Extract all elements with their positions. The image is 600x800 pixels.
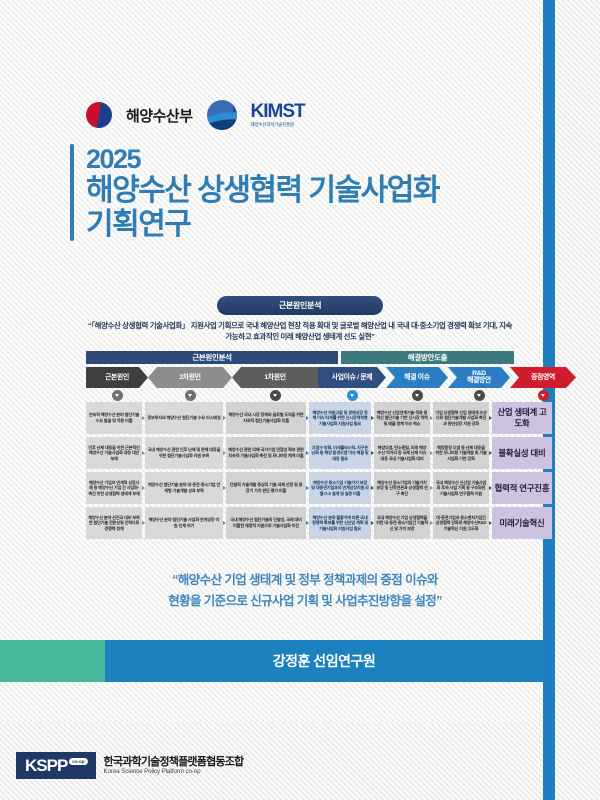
- cell-root-cause: 연속적 해양수산 분야 첨단기술 수요 발굴 및 적용 미흡: [86, 402, 142, 434]
- column-header-cause1-label: 1차원인: [262, 374, 287, 381]
- cell-issue: 해양수산 분야 활황기에 따른 국내 경쟁력 확보를 위한 신산업 계획 및 기…: [309, 507, 371, 539]
- chevron-down-icon-focus: [510, 390, 576, 401]
- cell-rnd: 국내 해양수산 신산업 기술사업화 후속 사업 기획 등 구조화된 기술사업화 …: [433, 472, 489, 504]
- presenter-band: 강정훈 선임연구원: [0, 640, 543, 682]
- column-header-cause1: 1차원인: [232, 367, 318, 388]
- chevron-down-icon-cause1: [232, 390, 318, 401]
- cell-focus-area: 미래기술혁신: [492, 507, 552, 539]
- cell-focus-area: 산업 생태계 고도화: [492, 402, 552, 434]
- kspp-coop-badge: co-op: [69, 758, 87, 765]
- title-accent-bar: [70, 144, 74, 241]
- band-blue-block: 강정훈 선임연구원: [105, 640, 543, 682]
- diagram-column-headers: 근본원인 2차원인 1차원인 사업이슈 / 문제 해결 이슈 R&D 해결방안 …: [86, 367, 514, 388]
- cell-cause2: 해양수산 첨단기술 분야 대·중견·중소기업 연계형 기술개발 성과 부족: [145, 472, 223, 504]
- kimst-subtitle: 해양수산과학기술진흥원: [251, 123, 305, 128]
- chevron-down-icon-cause2: [148, 390, 232, 401]
- footer-org-name-en: Korea Science Policy Platform co-op: [104, 768, 244, 775]
- bottom-quote-line-2: 현황을 기준으로 신규사업 기획 및 사업추진방향을 설정”: [70, 591, 540, 612]
- footer-org-name-kr: 한국과학기술정책플랫폼협동조합: [104, 756, 244, 769]
- taegeuk-icon: [82, 98, 115, 131]
- diagram-arrow-row: [86, 390, 514, 401]
- cell-root-cause: 인후 난제 대응을 위한 근본적인 해양수산 기술사업화 대응 대안 부재: [86, 437, 142, 469]
- chevron-down-icon-solve-issue: [386, 390, 448, 401]
- cell-rnd: 해양환경 오염 등 난제 대응을 위한 모니터링 기술개발 및 기술사업화 기반…: [433, 437, 489, 469]
- column-header-solve-issue: 해결 이슈: [386, 367, 448, 388]
- cell-cause1: 국내 해양수산 첨단기술의 단발성, 국제 대비 미흡한 재정적 지원으로 기술…: [226, 507, 306, 539]
- column-header-issue-label: 사업이슈 / 문제: [330, 374, 374, 381]
- group-bar-cause: 근본원인분석: [86, 351, 338, 364]
- column-header-rnd: R&D 해결방안: [448, 367, 510, 388]
- chevron-down-icon-rnd: [448, 390, 510, 401]
- diagram-grid: 연속적 해양수산 분야 첨단기술 수요 발굴 및 적용 미흡 정부투자와 해양수…: [86, 402, 514, 539]
- cell-cause2: 정부투자와 해양수산 첨단기술 수요 미스매칭: [145, 402, 223, 434]
- cell-issue: 해양수산 자원고갈 및 경제성장 정체 이슈 타개를 위한 신시장개척형 기술사…: [309, 402, 371, 434]
- column-header-solve-issue-label: 해결 이슈: [402, 374, 431, 381]
- column-header-issue: 사업이슈 / 문제: [318, 367, 386, 388]
- title-line-1: 해양수산 상생협력 기술사업화: [86, 174, 439, 208]
- cell-root-cause: 해양수산 기업의 연계적 성장사례 등 해양수산 기업 간 사업화·촉진 위한 …: [86, 472, 142, 504]
- cell-issue: 해양수산 중소기업 기술가치 보장 및 대중견기업과의 연계성장지원 모델 O.…: [309, 472, 371, 504]
- column-header-rnd-label: R&D 해결방안: [465, 370, 493, 385]
- footer: KSPP co-op 한국과학기술정책플랫폼협동조합 Korea Science…: [16, 752, 243, 779]
- column-header-focus-area: 중점영역: [510, 367, 576, 388]
- cell-cause1: 단발적 기술개발 중심의 기술 과제 선정 및 중장기 가치 판단 평가 미흡: [226, 472, 306, 504]
- cell-rnd: 대·중견기업과 중소벤처기업간 상생협력 강화로 해양수산R&D 기술혁신 지원…: [433, 507, 489, 539]
- cell-solve-issue: 해양수산 산업연계기술·적용 등 혁신 첨단기술 기반 신시장 개척 및 매출 …: [374, 402, 430, 434]
- column-header-root-cause-label: 근본원인: [103, 374, 131, 381]
- table-row: 해양수산 기업의 연계적 성장사례 등 해양수산 기업 간 사업화·촉진 위한 …: [86, 472, 514, 504]
- cell-rnd: 기업 상생협력 산업 생태계 조성으로 첨단기술개발 사업화 촉진과 동반성장 …: [433, 402, 489, 434]
- cell-focus-area: 협력적 연구진흥: [492, 472, 552, 504]
- cell-focus-area: 불확실성 대비: [492, 437, 552, 469]
- cell-cause1: 해양수산 관련 의제·국가기업 민첩성 확보 관련 지속적 기술사업화 촉진 및…: [226, 437, 306, 469]
- group-bar-solution: 해결방안도출: [341, 351, 514, 364]
- cell-cause2: 해양수산 분야 첨단기술 사업화 연계성장·지원·인재 위기: [145, 507, 223, 539]
- chevron-down-icon-root-cause: [86, 390, 148, 401]
- kspp-logo: KSPP co-op: [16, 752, 96, 779]
- cell-solve-issue: 국내 해양수산 기업 상생협력을 위한 대·중견·중소기업간 기술혁신 및 가치…: [374, 507, 430, 539]
- bottom-quote-line-1: “해양수산 기업 생태계 및 정부 정책과제의 중점 이슈와: [70, 570, 540, 591]
- title-year: 2025: [86, 144, 439, 174]
- diagram-pill-label: 근본원인분석: [217, 296, 383, 315]
- diagram-top-quote: “「해양수산 상생협력 기술사업화」 지원사업 기획으로 국내 해양산업 현장 …: [86, 320, 514, 343]
- bottom-quote: “해양수산 기업 생태계 및 정부 정책과제의 중점 이슈와 현황을 기준으로 …: [70, 570, 540, 611]
- band-teal-block: [0, 640, 105, 682]
- cell-root-cause: 해양수산 분야 선진국 대비 부족한 첨단기술 전문성및 인력으로 경쟁력 정체: [86, 507, 142, 539]
- ministry-name: 해양수산부: [126, 105, 193, 126]
- cell-cause2: 국내 해양수산 관련 인후 난제 및 문제 대응을 위한 첨단기술사업화 지원 …: [145, 437, 223, 469]
- chevron-down-icon-issue: [318, 390, 386, 401]
- page-title: 2025 해양수산 상생협력 기술사업화 기획연구: [86, 144, 439, 241]
- table-row: 연속적 해양수산 분야 첨단기술 수요 발굴 및 적용 미흡 정부투자와 해양수…: [86, 402, 514, 434]
- root-cause-analysis-diagram: 근본원인분석 “「해양수산 상생협력 기술사업화」 지원사업 기획으로 국내 해…: [86, 296, 514, 542]
- kspp-wordmark: KSPP: [25, 757, 67, 774]
- column-header-cause2: 2차원인: [148, 367, 232, 388]
- kimst-wave-icon: [207, 100, 237, 130]
- title-block: 2025 해양수산 상생협력 기술사업화 기획연구: [70, 144, 540, 241]
- cell-cause1: 해양수산 국내 시장 정체와 글로벌 도약을 위한 지속적 첨단기술사업화 미흡: [226, 402, 306, 434]
- diagram-group-bars: 근본원인분석 해결방안도출: [86, 351, 514, 364]
- column-header-focus-area-label: 중점영역: [529, 374, 557, 381]
- cell-solve-issue: 해양수산 중소기업의 기술가치 보장 및 산학연관과 상생협력 연구 촉진: [374, 472, 430, 504]
- presenter-name: 강정훈 선임연구원: [273, 651, 375, 671]
- title-line-2: 기획연구: [86, 208, 439, 242]
- column-header-cause2-label: 2차원인: [177, 374, 202, 381]
- table-row: 해양수산 분야 선진국 대비 부족한 첨단기술 전문성및 인력으로 경쟁력 정체…: [86, 507, 514, 539]
- cell-solve-issue: 해양오염, 탄소중립, 미래 해양수산 먹거리 등 국제 난제 이슈 대응 국내…: [374, 437, 430, 469]
- table-row: 인후 난제 대응을 위한 근본적인 해양수산 기술사업화 대응 대안 부재 국내…: [86, 437, 514, 469]
- footer-org-names: 한국과학기술정책플랫폼협동조합 Korea Science Policy Pla…: [104, 756, 244, 776]
- header-logos: 해양수산부 KIMST 해양수산과학기술진흥원: [86, 98, 305, 132]
- column-header-root-cause: 근본원인: [86, 367, 148, 388]
- kimst-logo-text: KIMST 해양수산과학기술진흥원: [251, 102, 305, 128]
- kimst-wordmark: KIMST: [251, 102, 305, 121]
- cell-issue: 오염수 방류, 미세플라스틱, 지구온난화 등 해양 환경오염 이슈 해결 및 …: [309, 437, 371, 469]
